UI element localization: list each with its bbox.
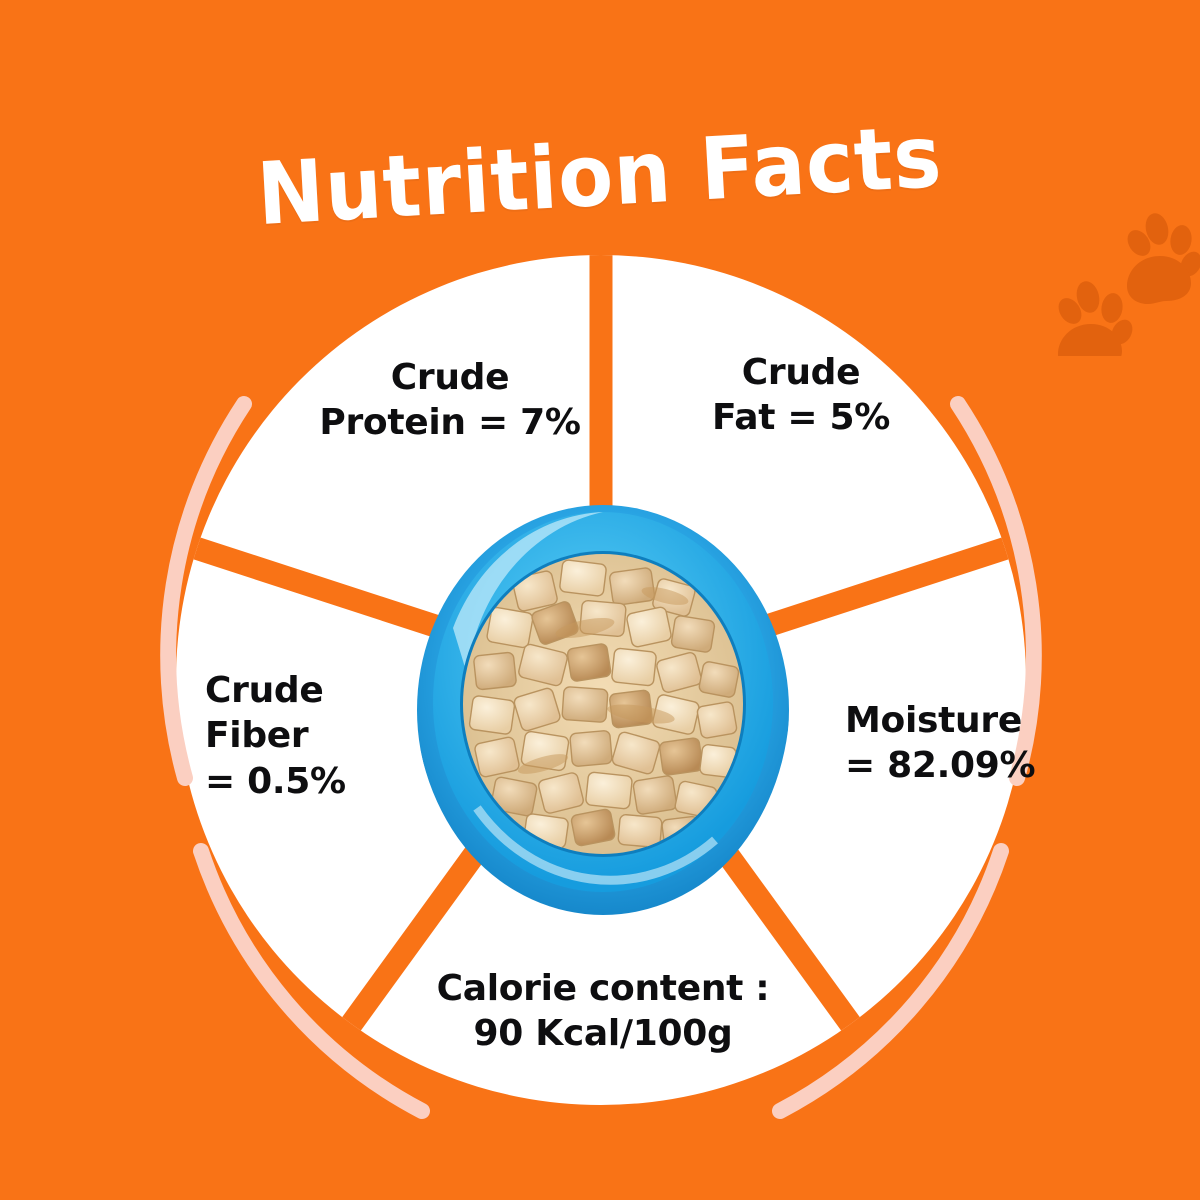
infographic-canvas: Nutrition Facts Crude Protein = 7% Crude… [0,0,1200,1200]
segment-label-crude-fiber: Crude Fiber = 0.5% [205,668,425,804]
product-photo-bowl [415,478,790,918]
segment-label-crude-fat: Crude Fat = 5% [676,350,926,441]
segment-label-moisture: Moisture = 82.09% [845,698,1095,789]
segment-label-crude-protein: Crude Protein = 7% [300,355,600,446]
segment-label-calorie-content: Calorie content : 90 Kcal/100g [408,966,798,1057]
